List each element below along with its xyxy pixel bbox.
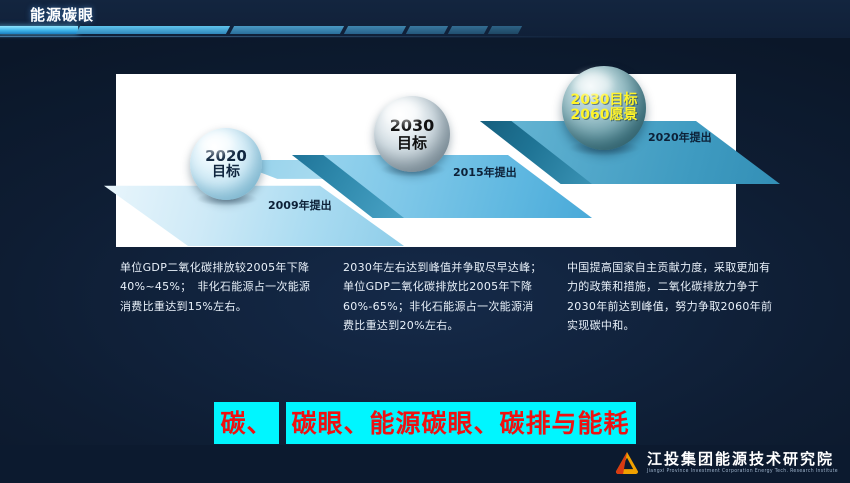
- headline-segment-1: 碳、: [214, 402, 278, 444]
- description-column-2: 2030年左右达到峰值并争取尽早达峰；单位GDP二氧化碳排放比2005年下降60…: [343, 258, 543, 335]
- triangle-logo-icon: [614, 450, 640, 476]
- milestone-sphere-2060: 2030目标 2060愿景: [562, 66, 646, 150]
- description-columns: 单位GDP二氧化碳排放较2005年下降40%~45%； 非化石能源占一次能源消费…: [116, 258, 756, 358]
- roadmap-card: 2009年提出 2015年提出 2020年提出 2020 目标 2030 目标 …: [116, 74, 736, 247]
- milestone-sphere-2030: 2030 目标: [374, 96, 450, 172]
- slide-header: 能源碳眼: [0, 0, 850, 38]
- sphere-line-2: 2060愿景: [571, 108, 638, 123]
- accent-segment: [76, 26, 230, 34]
- sphere-line-1: 2030目标: [571, 93, 638, 108]
- accent-segment: [230, 26, 344, 34]
- headline-segment-2: 碳眼、能源碳眼、碳排与能耗: [286, 402, 636, 444]
- bottom-headline: 碳、碳眼、能源碳眼、碳排与能耗: [0, 402, 850, 444]
- milestone-sphere-2020: 2020 目标: [190, 128, 262, 200]
- staircase-graphic: 2009年提出 2015年提出 2020年提出 2020 目标 2030 目标 …: [116, 74, 736, 247]
- step-label-2: 2015年提出: [453, 164, 517, 180]
- logo-text-block: 江投集团能源技术研究院 Jiangxi Province Investment …: [647, 452, 838, 475]
- logo-company-name: 江投集团能源技术研究院: [647, 452, 838, 467]
- accent-segment: [488, 26, 522, 34]
- sphere-line-1: 2020: [205, 148, 247, 164]
- sphere-line-1: 2030: [390, 117, 435, 134]
- page-title: 能源碳眼: [30, 4, 94, 25]
- sphere-line-2: 目标: [212, 165, 240, 180]
- logo-company-name-en: Jiangxi Province Investment Corporation …: [647, 470, 838, 475]
- description-column-3: 中国提高国家自主贡献力度，采取更加有力的政策和措施，二氧化碳排放力争于2030年…: [567, 258, 775, 335]
- header-accent-bar: [0, 26, 850, 35]
- accent-segment: [448, 26, 488, 34]
- slide-canvas: 能源碳眼 2009年提出 2015年提出 2020年提出 2020: [0, 0, 850, 483]
- accent-segment: [406, 26, 448, 34]
- header-divider: [0, 36, 850, 37]
- sphere-line-2: 目标: [397, 135, 427, 151]
- step-label-1: 2009年提出: [268, 197, 332, 213]
- accent-segment: [344, 26, 406, 34]
- accent-segment: [0, 26, 78, 34]
- description-column-1: 单位GDP二氧化碳排放较2005年下降40%~45%； 非化石能源占一次能源消费…: [120, 258, 320, 316]
- step-label-3: 2020年提出: [648, 129, 712, 145]
- company-logo: 江投集团能源技术研究院 Jiangxi Province Investment …: [614, 450, 838, 476]
